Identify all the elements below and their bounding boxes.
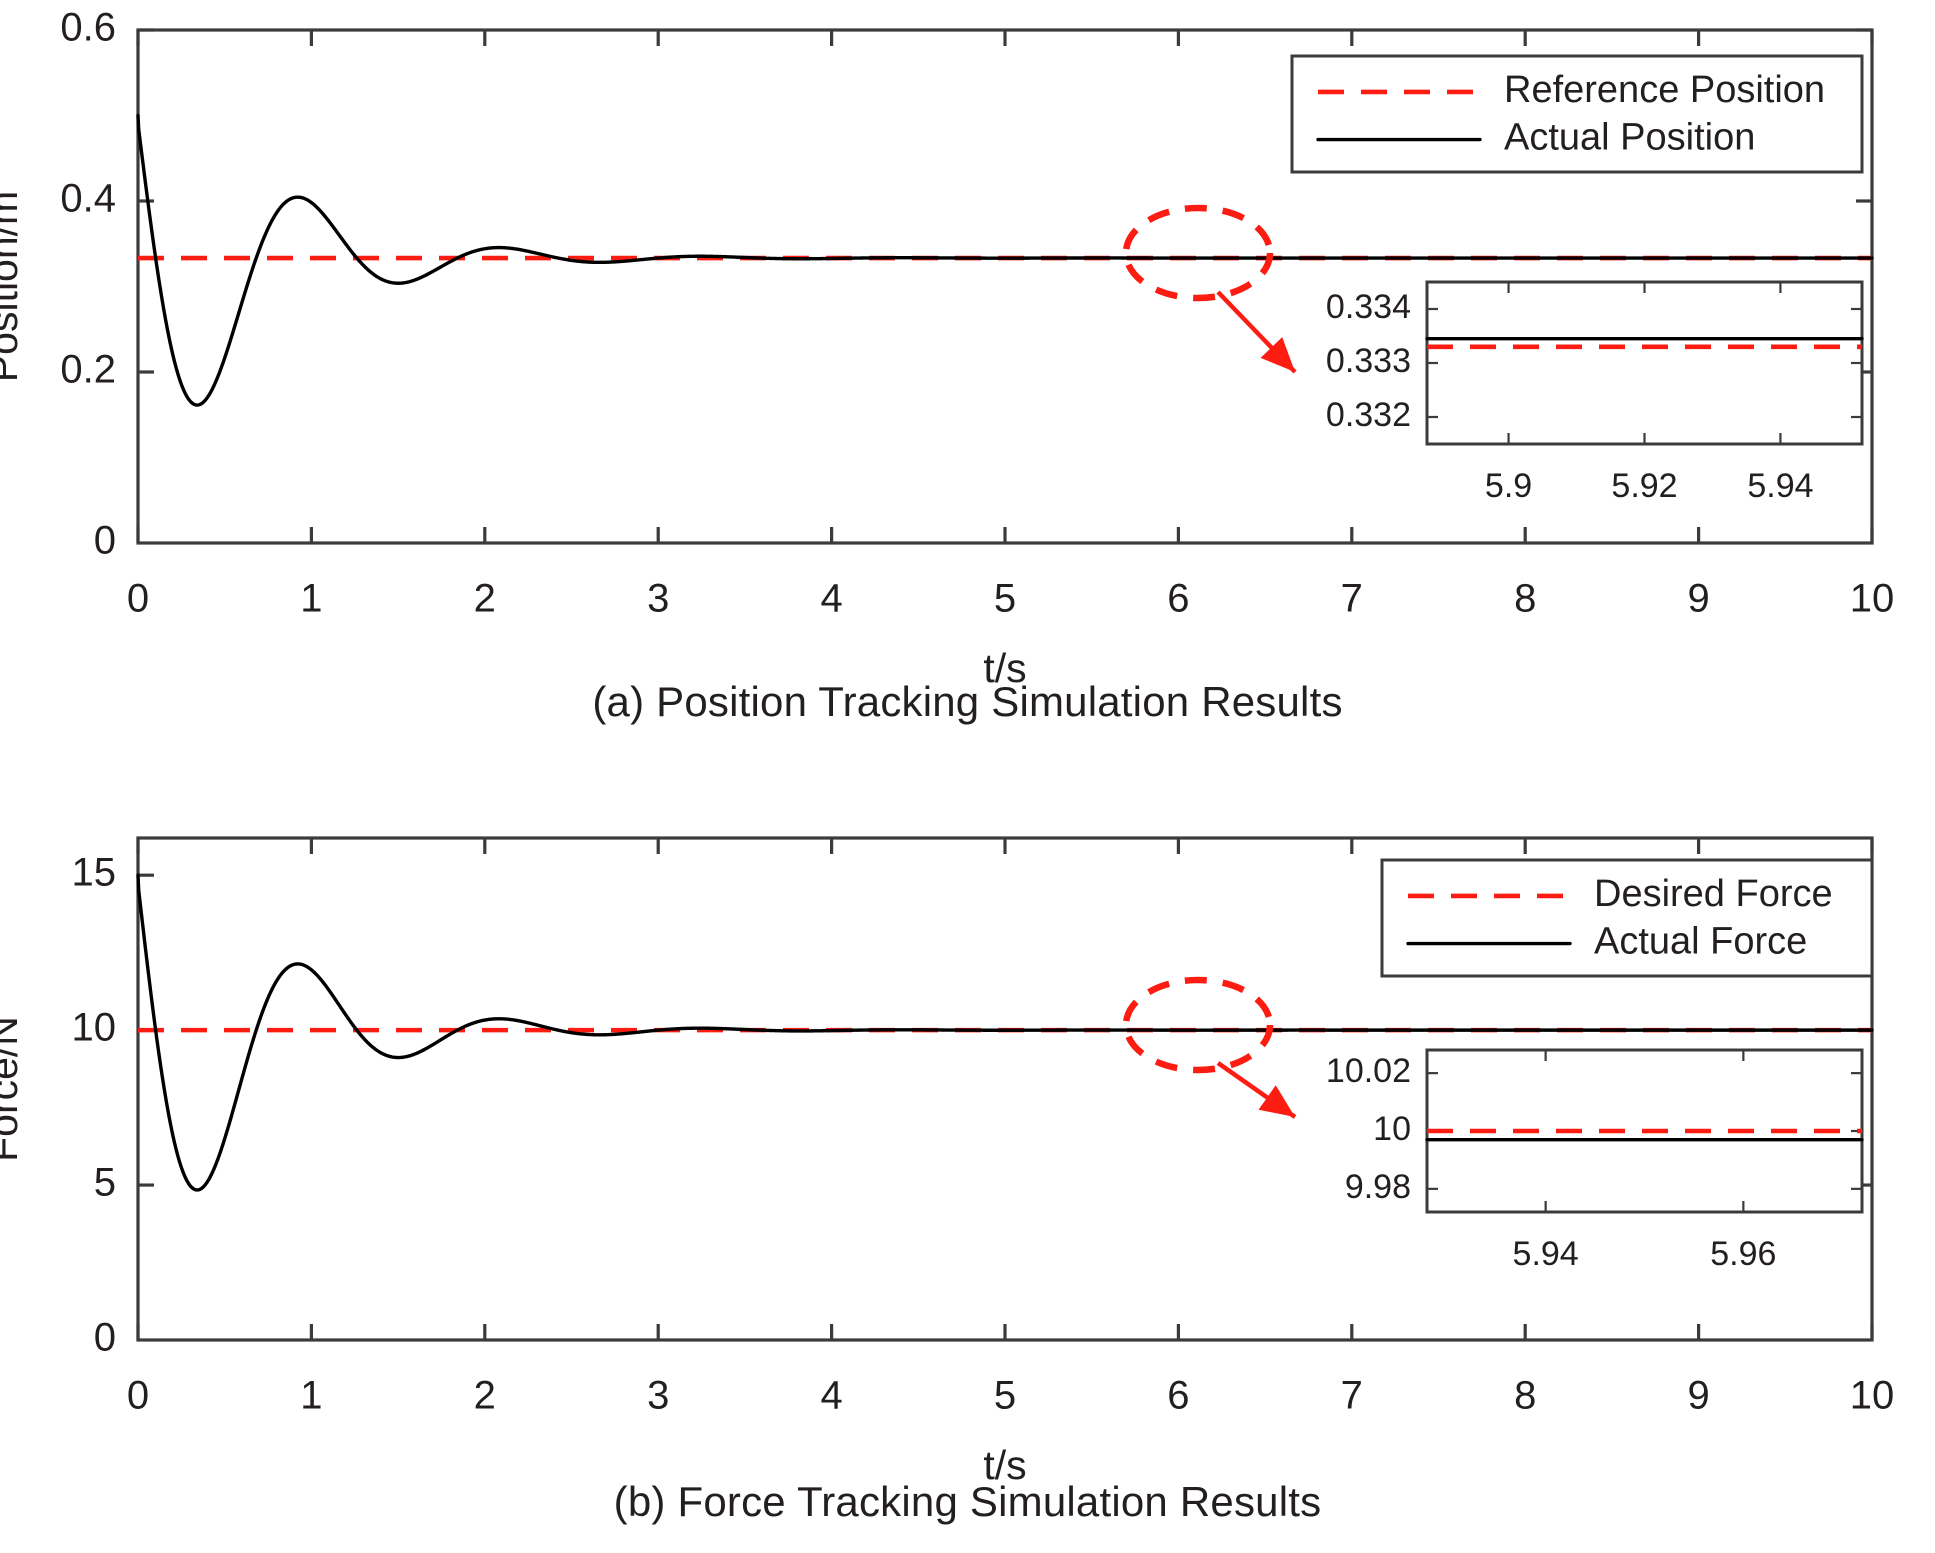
inset-x-tick-label: 5.96 (1710, 1235, 1776, 1273)
x-tick-label: 8 (1514, 577, 1536, 621)
inset-y-tick-label: 0.332 (1326, 396, 1411, 434)
x-tick-label: 7 (1341, 577, 1363, 621)
x-tick-label: 10 (1850, 1374, 1895, 1418)
y-tick-label: 0 (94, 519, 116, 563)
caption-position-panel: (a) Position Tracking Simulation Results (0, 678, 1935, 726)
zoom-region-ellipse (1126, 980, 1270, 1070)
inset-x-tick-label: 5.92 (1611, 467, 1677, 505)
y-tick-label: 0.2 (60, 348, 116, 392)
y-axis-title-group: Position/m (0, 191, 26, 382)
legend: Desired ForceActual Force (1382, 860, 1872, 976)
inset-y-tick-label: 0.334 (1326, 288, 1411, 326)
y-tick-label: 15 (72, 851, 117, 895)
x-tick-label: 0 (127, 1374, 149, 1418)
x-tick-label: 10 (1850, 577, 1895, 621)
inset-frame (1427, 282, 1862, 444)
x-tick-label: 4 (820, 577, 842, 621)
x-tick-label: 6 (1167, 1374, 1189, 1418)
x-tick-label: 9 (1687, 1374, 1709, 1418)
y-tick-label: 0.6 (60, 6, 116, 50)
inset-plot: 5.95.925.940.3320.3330.334 (1326, 282, 1862, 505)
x-tick-label: 0 (127, 577, 149, 621)
figure-page: 01234567891000.20.40.6t/sPosition/mRefer… (0, 0, 1935, 1553)
inset-y-tick-label: 0.333 (1326, 342, 1411, 380)
inset-plot: 5.945.969.981010.02 (1326, 1050, 1862, 1273)
y-tick-label: 5 (94, 1161, 116, 1205)
inset-y-tick-label: 9.98 (1345, 1168, 1411, 1206)
x-tick-label: 9 (1687, 577, 1709, 621)
x-tick-label: 6 (1167, 577, 1189, 621)
x-tick-label: 1 (300, 577, 322, 621)
inset-x-tick-label: 5.94 (1747, 467, 1813, 505)
x-tick-label: 3 (647, 577, 669, 621)
legend: Reference PositionActual Position (1292, 56, 1862, 172)
force-tracking-chart: 012345678910051015t/sForce/NDesired Forc… (0, 780, 1935, 1553)
y-axis-title-group: Force/N (0, 1016, 26, 1162)
y-axis-title: Force/N (0, 1016, 26, 1162)
position-tracking-chart: 01234567891000.20.40.6t/sPosition/mRefer… (0, 0, 1935, 760)
zoom-annotation (1126, 980, 1304, 1129)
x-tick-label: 5 (994, 577, 1016, 621)
zoom-region-ellipse (1126, 208, 1270, 298)
y-axis-title: Position/m (0, 191, 26, 382)
chart-panel-force: 012345678910051015t/sForce/NDesired Forc… (0, 780, 1935, 1553)
legend-label-actual: Actual Position (1504, 117, 1755, 159)
x-tick-label: 1 (300, 1374, 322, 1418)
inset-x-tick-label: 5.9 (1485, 467, 1532, 505)
legend-label-actual: Actual Force (1594, 921, 1807, 963)
x-tick-label: 4 (820, 1374, 842, 1418)
x-tick-label: 8 (1514, 1374, 1536, 1418)
x-tick-label: 2 (474, 1374, 496, 1418)
y-tick-label: 10 (72, 1006, 117, 1050)
x-tick-label: 7 (1341, 1374, 1363, 1418)
chart-panel-position: 01234567891000.20.40.6t/sPosition/mRefer… (0, 0, 1935, 760)
y-tick-label: 0.4 (60, 177, 116, 221)
x-tick-label: 3 (647, 1374, 669, 1418)
x-tick-label: 2 (474, 577, 496, 621)
inset-y-tick-label: 10 (1373, 1110, 1411, 1148)
y-tick-label: 0 (94, 1316, 116, 1360)
legend-label-reference: Reference Position (1504, 69, 1825, 111)
zoom-arrow-head (1259, 1085, 1304, 1129)
inset-x-tick-label: 5.94 (1513, 1235, 1579, 1273)
inset-y-tick-label: 10.02 (1326, 1052, 1411, 1090)
plot-area: 01234567891000.20.40.6t/sPosition/mRefer… (0, 6, 1894, 691)
legend-label-reference: Desired Force (1594, 873, 1833, 915)
zoom-annotation (1126, 208, 1306, 382)
caption-force-panel: (b) Force Tracking Simulation Results (0, 1478, 1935, 1526)
plot-area: 012345678910051015t/sForce/NDesired Forc… (0, 838, 1894, 1488)
x-tick-label: 5 (994, 1374, 1016, 1418)
